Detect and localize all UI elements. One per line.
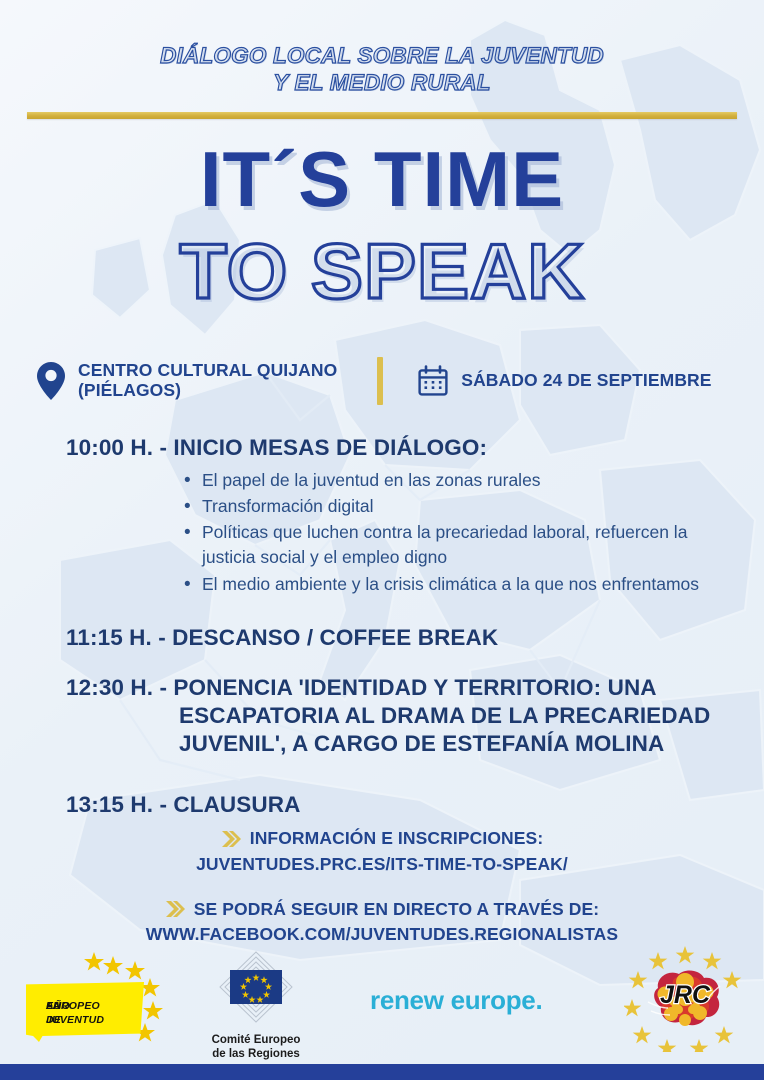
info-url[interactable]: JUVENTUDES.PRC.ES/ITS-TIME-TO-SPEAK/ [0, 854, 764, 875]
aej-yellow-badge: AÑO EUROPEO DE LA JUVENTUD [26, 982, 144, 1042]
agenda-heading: 13:15 H. - CLAUSURA [66, 791, 736, 819]
agenda-heading: 12:30 H. - PONENCIA 'IDENTIDAD Y TERRITO… [66, 674, 736, 702]
title-line-1: IT´S TIME [0, 140, 764, 218]
cor-caption-line-2: de las Regiones [196, 1047, 316, 1061]
poster-root: DIÁLOGO LOCAL SOBRE LA JUVENTUD Y EL MED… [0, 0, 764, 1080]
date-item: SÁBADO 24 DE SEPTIEMBRE [417, 365, 711, 397]
jrc-logo: JRC [624, 944, 746, 1052]
stream-heading-text: SE PODRÁ SEGUIR EN DIRECTO A TRAVÉS DE: [194, 899, 599, 920]
agenda-heading: 11:15 H. - DESCANSO / COFFEE BREAK [66, 624, 736, 652]
list-item: Transformación digital [66, 494, 736, 519]
cor-caption: Comité Europeo de las Regiones [196, 1033, 316, 1062]
jrc-wordmark: JRC [660, 981, 711, 1009]
agenda-item-4: 13:15 H. - CLAUSURA [66, 791, 736, 819]
venue-line-1: CENTRO CULTURAL QUIJANO [78, 361, 337, 381]
eyebrow-headline: DIÁLOGO LOCAL SOBRE LA JUVENTUD Y EL MED… [0, 42, 764, 97]
title-line-2: TO SPEAK [0, 232, 764, 310]
map-pin-icon [36, 361, 66, 401]
main-title: IT´S TIME TO SPEAK [0, 140, 764, 310]
double-chevron-right-icon [221, 830, 241, 848]
bottom-accent-bar [0, 1064, 764, 1080]
comite-europeo-de-las-regiones-logo: Comité Europeo de las Regiones [196, 948, 316, 1060]
info-heading-text: INFORMACIÓN E INSCRIPCIONES: [250, 828, 544, 849]
spacer [66, 757, 736, 791]
venue-date-strip: CENTRO CULTURAL QUIJANO (PIÉLAGOS) [36, 352, 728, 410]
aej-line-3: LA JUVENTUD [46, 1000, 104, 1028]
stream-heading-row: SE PODRÁ SEGUIR EN DIRECTO A TRAVÉS DE: [165, 899, 599, 920]
agenda-heading-continuation-text: ESCAPATORIA AL DRAMA DE LA PRECARIEDAD J… [66, 702, 736, 758]
double-chevron-right-icon [165, 900, 185, 918]
venue-line-2: (PIÉLAGOS) [78, 381, 337, 401]
eyebrow-line-1: DIÁLOGO LOCAL SOBRE LA JUVENTUD [0, 42, 764, 69]
agenda-item-3: 12:30 H. - PONENCIA 'IDENTIDAD Y TERRITO… [66, 674, 736, 758]
agenda-list: 10:00 H. - INICIO MESAS DE DIÁLOGO: El p… [66, 434, 736, 819]
date-text: SÁBADO 24 DE SEPTIEMBRE [461, 371, 711, 391]
calendar-icon [417, 365, 449, 397]
info-heading-row: INFORMACIÓN E INSCRIPCIONES: [221, 828, 544, 849]
spacer [66, 598, 736, 624]
gold-divider-rule [27, 112, 737, 119]
venue-text: CENTRO CULTURAL QUIJANO (PIÉLAGOS) [78, 361, 337, 401]
info-link-block: INFORMACIÓN E INSCRIPCIONES: JUVENTUDES.… [0, 828, 764, 875]
list-item: Políticas que luchen contra la precaried… [66, 520, 736, 570]
eyebrow-line-2: Y EL MEDIO RURAL [0, 69, 764, 96]
list-item: El medio ambiente y la crisis climática … [66, 572, 736, 597]
agenda-bullets: El papel de la juventud en las zonas rur… [66, 468, 736, 597]
venue-item: CENTRO CULTURAL QUIJANO (PIÉLAGOS) [36, 361, 337, 401]
agenda-item-1: 10:00 H. - INICIO MESAS DE DIÁLOGO: El p… [66, 434, 736, 597]
ano-europeo-de-la-juventud-logo: AÑO EUROPEO DE LA JUVENTUD [18, 950, 178, 1058]
agenda-item-2: 11:15 H. - DESCANSO / COFFEE BREAK [66, 624, 736, 652]
list-item: El papel de la juventud en las zonas rur… [66, 468, 736, 493]
agenda-heading-continuation: ESCAPATORIA AL DRAMA DE LA PRECARIEDAD J… [66, 702, 736, 758]
meta-separator [377, 357, 383, 405]
renew-europe-logo: renew europe. [370, 985, 542, 1016]
agenda-heading: 10:00 H. - INICIO MESAS DE DIÁLOGO: [66, 434, 736, 462]
cor-emblem-icon [196, 948, 316, 1026]
cor-caption-line-1: Comité Europeo [196, 1033, 316, 1047]
footer-logos: AÑO EUROPEO DE LA JUVENTUD [0, 934, 764, 1064]
jrc-emblem-icon: JRC [624, 944, 746, 1052]
spacer [66, 652, 736, 674]
